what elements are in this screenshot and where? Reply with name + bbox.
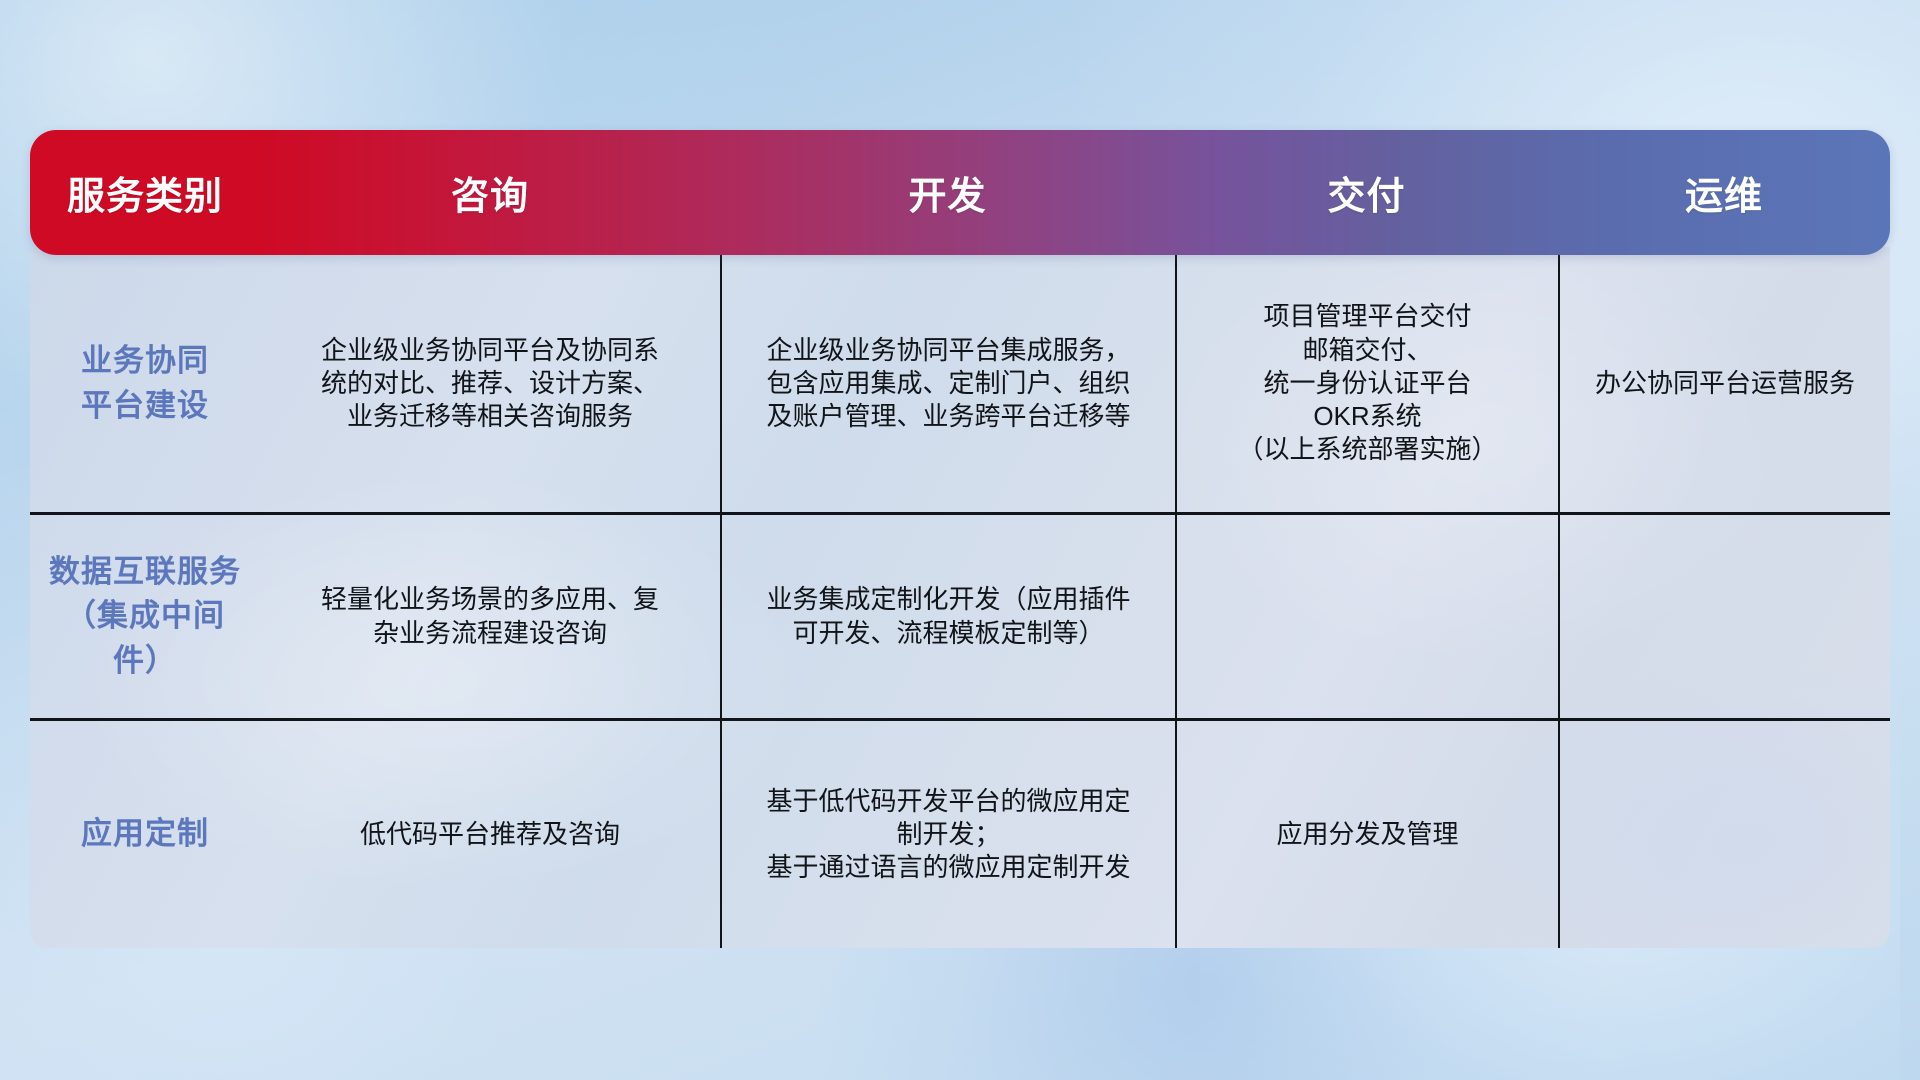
column-header-category: 服务类别 <box>30 130 260 255</box>
row-label-business-collaboration: 业务协同 平台建设 <box>30 255 260 512</box>
cell-r1-operations: 办公协同平台运营服务 <box>1558 255 1890 512</box>
cell-r1-delivery: 项目管理平台交付 邮箱交付、 统一身份认证平台 OKR系统 （以上系统部署实施） <box>1175 255 1558 512</box>
cell-r1-development: 企业级业务协同平台集成服务， 包含应用集成、定制门户、组织 及账户管理、业务跨平… <box>720 255 1175 512</box>
row-label-app-customization: 应用定制 <box>30 721 260 948</box>
cell-r3-delivery: 应用分发及管理 <box>1175 721 1558 948</box>
column-header-delivery: 交付 <box>1175 130 1558 255</box>
column-header-development: 开发 <box>720 130 1175 255</box>
cell-r3-operations <box>1558 721 1890 948</box>
column-header-consulting: 咨询 <box>260 130 720 255</box>
table-row: 数据互联服务 （集成中间件） 轻量化业务场景的多应用、复 杂业务流程建设咨询 业… <box>30 512 1890 718</box>
cell-r2-delivery <box>1175 515 1558 718</box>
cell-r2-consulting: 轻量化业务场景的多应用、复 杂业务流程建设咨询 <box>260 515 720 718</box>
table-row: 应用定制 低代码平台推荐及咨询 基于低代码开发平台的微应用定 制开发； 基于通过… <box>30 718 1890 948</box>
row-label-data-interconnect: 数据互联服务 （集成中间件） <box>30 515 260 718</box>
cell-r3-consulting: 低代码平台推荐及咨询 <box>260 721 720 948</box>
service-matrix-table: 服务类别 咨询 开发 交付 运维 业务协同 平台建设 企业级业务协同平台及协同系… <box>30 130 1890 948</box>
table-header-row: 服务类别 咨询 开发 交付 运维 <box>30 130 1890 255</box>
cell-r2-operations <box>1558 515 1890 718</box>
column-header-operations: 运维 <box>1558 130 1890 255</box>
cell-r3-development: 基于低代码开发平台的微应用定 制开发； 基于通过语言的微应用定制开发 <box>720 721 1175 948</box>
table-body: 业务协同 平台建设 企业级业务协同平台及协同系 统的对比、推荐、设计方案、 业务… <box>30 247 1890 948</box>
cell-r2-development: 业务集成定制化开发（应用插件 可开发、流程模板定制等） <box>720 515 1175 718</box>
table-row: 业务协同 平台建设 企业级业务协同平台及协同系 统的对比、推荐、设计方案、 业务… <box>30 255 1890 512</box>
cell-r1-consulting: 企业级业务协同平台及协同系 统的对比、推荐、设计方案、 业务迁移等相关咨询服务 <box>260 255 720 512</box>
